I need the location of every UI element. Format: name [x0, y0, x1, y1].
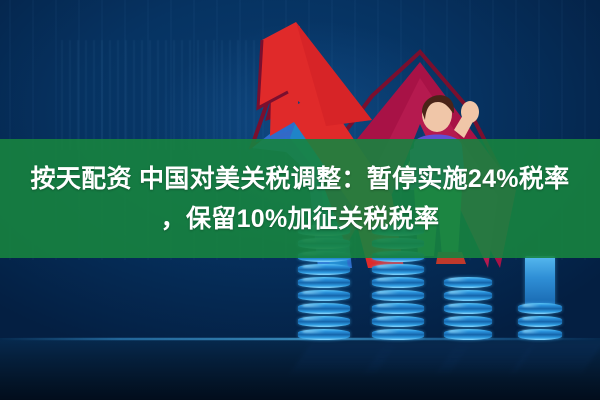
caption-text: 按天配资 中国对美关税调整：暂停实施24%税率 ，保留10%加征关税税率	[0, 139, 600, 258]
banner-image: 按天配资 中国对美关税调整：暂停实施24%税率 ，保留10%加征关税税率	[0, 0, 600, 400]
coin-stack-4	[518, 303, 562, 342]
coin-stack-3	[444, 277, 492, 342]
coin-bar-card	[525, 256, 555, 304]
caption-line-2: ，保留10%加征关税税率	[161, 199, 440, 239]
caption-line-1: 按天配资 中国对美关税调整：暂停实施24%税率	[31, 159, 570, 199]
